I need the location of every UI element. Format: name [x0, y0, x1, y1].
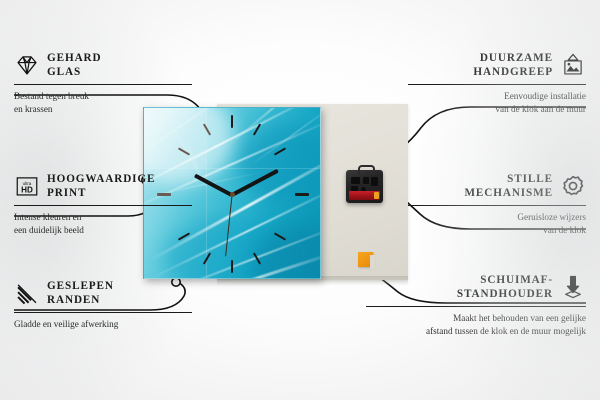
svg-text:HD: HD: [21, 186, 33, 195]
feature-stille-mechanisme: STILLE MECHANISME Geruisloze wijzers van…: [408, 171, 586, 237]
feature-title: STILLE MECHANISME: [464, 172, 553, 201]
feature-divider: [14, 84, 192, 85]
ultra-hd-icon: ultra HD: [14, 173, 40, 199]
movement-slot: [371, 177, 378, 186]
gear-icon: [560, 173, 586, 199]
feature-header: STILLE MECHANISME: [408, 171, 586, 201]
feature-desc-line1: Maakt het behouden van een gelijke: [366, 312, 586, 325]
movement-slot: [351, 177, 360, 184]
clock-tick-6: [231, 260, 233, 273]
diamond-icon: [14, 52, 40, 78]
feature-gehard-glas: GEHARD GLAS Bestand tegen breuk en krass…: [14, 50, 192, 116]
feature-title: HOOGWAARDIGE PRINT: [47, 172, 155, 201]
feature-geslepen-randen: GESLEPEN RANDEN Gladde en veilige afwerk…: [14, 278, 192, 331]
battery-positive-terminal: [374, 192, 379, 199]
arrow-down-plate-icon: [560, 274, 586, 300]
feature-hoogwaardige-print: ultra HD HOOGWAARDIGE PRINT Intense kleu…: [14, 171, 192, 237]
feature-desc-line2: van de klok aan de muur: [408, 103, 586, 116]
feature-divider: [408, 205, 586, 206]
foam-spacer: [358, 252, 373, 267]
clock-reflection-seam: [144, 108, 206, 168]
feature-desc-line1: Intense kleuren en: [14, 211, 192, 224]
clock-reflection-seam: [144, 168, 321, 169]
feature-divider: [14, 312, 192, 313]
feature-title: GEHARD GLAS: [47, 51, 102, 80]
clock-reflection-seam: [206, 108, 207, 279]
hanging-picture-icon: [560, 52, 586, 78]
movement-slot: [363, 177, 369, 184]
diagonal-lines-icon: [14, 280, 40, 306]
feature-header: GEHARD GLAS: [14, 50, 192, 80]
feature-desc-line1: Bestand tegen breuk: [14, 90, 192, 103]
feature-title: SCHUIMAF- STANDHOUDER: [457, 273, 553, 302]
feature-header: ultra HD HOOGWAARDIGE PRINT: [14, 171, 192, 201]
feature-header: SCHUIMAF- STANDHOUDER: [366, 272, 586, 302]
feature-desc-line1: Geruisloze wijzers: [408, 211, 586, 224]
movement-battery: [349, 191, 380, 200]
feature-schuimafstandhouder: SCHUIMAF- STANDHOUDER Maakt het behouden…: [366, 272, 586, 338]
feature-desc-line2: afstand tussen de klok en de muur mogeli…: [366, 325, 586, 338]
feature-desc-line2: een duidelijk beeld: [14, 224, 192, 237]
feature-desc-line1: Gladde en veilige afwerking: [14, 318, 192, 331]
feature-desc-line2: van de klok: [408, 224, 586, 237]
feature-divider: [408, 84, 586, 85]
feature-header: DUURZAME HANDGREEP: [408, 50, 586, 80]
feature-desc-line1: Eenvoudige installatie: [408, 90, 586, 103]
clock-tick-3: [295, 193, 309, 196]
clock-center-hub: [230, 192, 235, 197]
infographic-canvas: GEHARD GLAS Bestand tegen breuk en krass…: [0, 0, 600, 400]
feature-divider: [14, 205, 192, 206]
feature-divider: [366, 306, 586, 307]
feature-duurzame-handgreep: DUURZAME HANDGREEP Eenvoudige installati…: [408, 50, 586, 116]
feature-title: GESLEPEN RANDEN: [47, 279, 114, 308]
feature-title: DUURZAME HANDGREEP: [473, 51, 553, 80]
movement-hanger-loop: [358, 165, 375, 175]
clock-tick-12: [231, 115, 233, 128]
clock-movement: [346, 170, 383, 203]
feature-header: GESLEPEN RANDEN: [14, 278, 192, 308]
feature-desc-line2: en krassen: [14, 103, 192, 116]
